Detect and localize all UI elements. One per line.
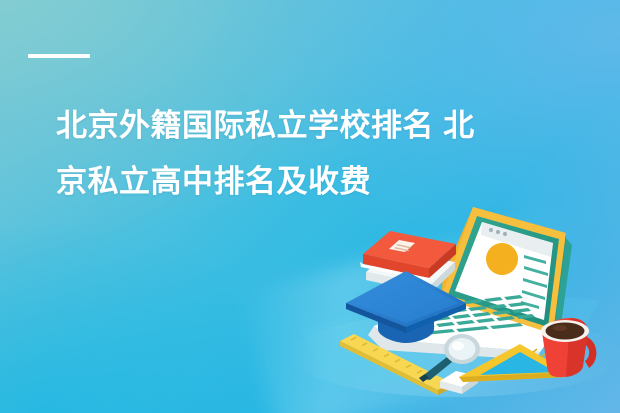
laptop-screen-text-lines — [521, 255, 548, 309]
triangle-ruler-ticks — [533, 349, 553, 362]
accent-rule — [28, 54, 90, 58]
coffee-mug — [541, 318, 596, 377]
eraser — [440, 371, 478, 394]
book-stack — [360, 231, 456, 294]
page-title: 北京外籍国际私立学校排名 北 京私立高中排名及收费 — [56, 98, 556, 210]
graduation-cap — [346, 271, 466, 343]
laptop — [368, 207, 572, 360]
banner-card: 北京外籍国际私立学校排名 北 京私立高中排名及收费 — [0, 0, 620, 413]
triangle-ruler — [459, 344, 568, 382]
background-light-streak — [242, 212, 598, 413]
ruler — [340, 334, 452, 395]
laptop-keyboard — [404, 295, 535, 335]
ground-glow — [290, 288, 620, 397]
magnifying-glass — [419, 334, 480, 382]
ruler-ticks — [351, 338, 433, 379]
